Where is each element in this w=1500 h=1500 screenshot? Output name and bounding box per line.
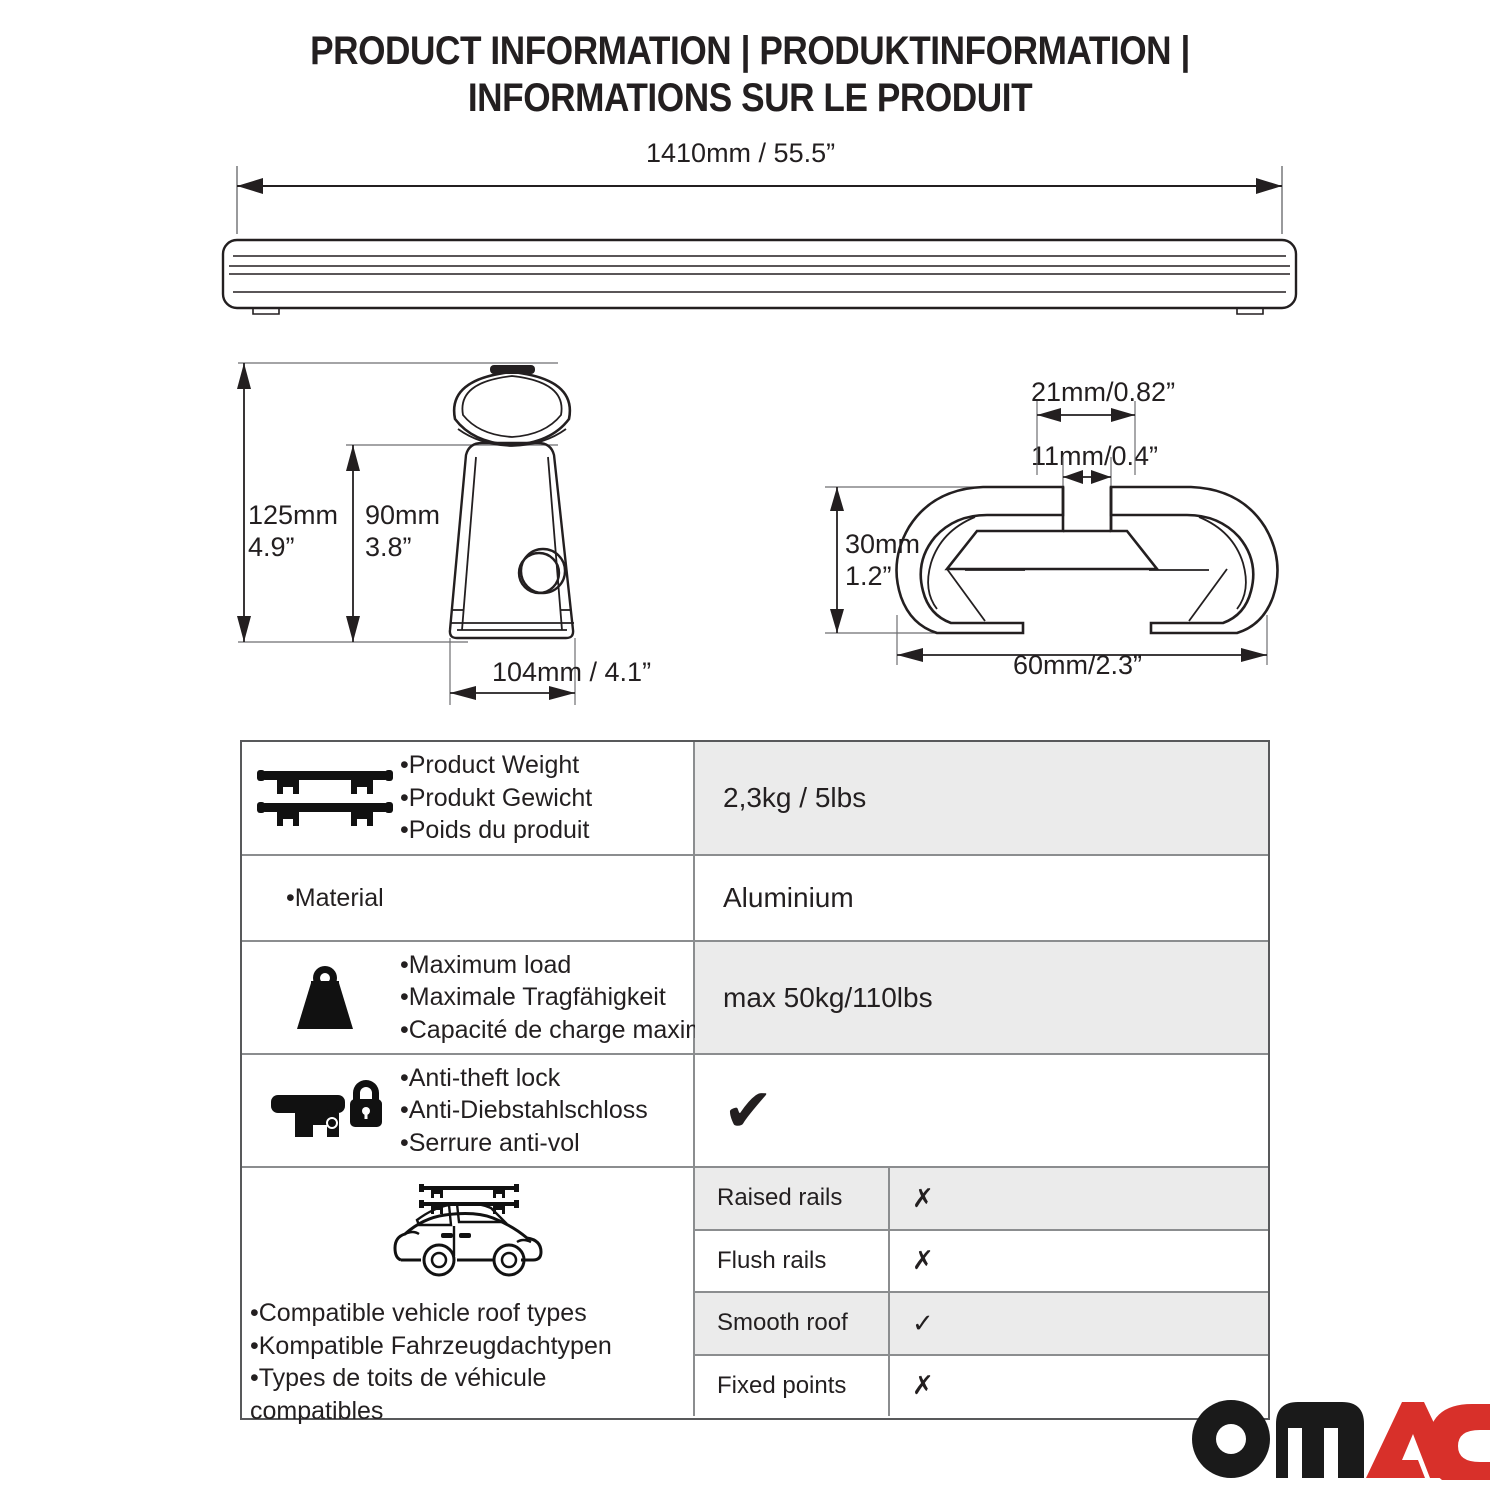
product-weight-value: 2,3kg / 5lbs — [723, 782, 866, 814]
row-label-cell: •Anti-theft lock •Anti-Diebstahlschloss … — [242, 1055, 695, 1166]
page-title-line-2: INFORMATIONS SUR LE PRODUIT — [266, 75, 1234, 122]
label-line: •Maximum load — [400, 949, 739, 982]
roof-type-name: Flush rails — [695, 1231, 890, 1292]
roof-types-label-text: •Compatible vehicle roof types •Kompatib… — [242, 1297, 612, 1427]
roof-type-row-fixed-points: Fixed points ✗ — [695, 1354, 1268, 1417]
label-line: •Anti-theft lock — [400, 1062, 648, 1095]
row-value-cell: 2,3kg / 5lbs — [695, 742, 1268, 854]
label-line: •Produkt Gewicht — [400, 782, 592, 815]
row-label-cell: •Material — [242, 856, 695, 940]
table-row-material: •Material Aluminium — [242, 854, 1268, 940]
roof-type-mark: ✓ — [890, 1293, 1268, 1354]
table-row-anti-theft-lock: •Anti-theft lock •Anti-Diebstahlschloss … — [242, 1053, 1268, 1166]
anti-theft-lock-value: ✔ — [723, 1081, 773, 1141]
roof-type-name: Fixed points — [695, 1356, 890, 1417]
label-line: •Maximale Tragfähigkeit — [400, 981, 739, 1014]
bar-profile-cross-section-drawing — [815, 365, 1285, 705]
row-value-cell: Aluminium — [695, 856, 1268, 940]
page-title-line-1: PRODUCT INFORMATION | PRODUKTINFORMATION… — [266, 28, 1234, 75]
material-value: Aluminium — [723, 882, 854, 914]
roof-type-row-flush-rails: Flush rails ✗ — [695, 1229, 1268, 1292]
foot-height-total-in: 4.9” — [248, 532, 338, 564]
label-line: •Kompatible Fahrzeugdachtypen — [250, 1330, 612, 1363]
lock-icon — [250, 1073, 400, 1149]
label-line: •Anti-Diebstahlschloss — [400, 1094, 648, 1127]
label-line: •Product Weight — [400, 749, 592, 782]
foot-height-inner-in: 3.8” — [365, 532, 440, 564]
roof-type-row-smooth-roof: Smooth roof ✓ — [695, 1291, 1268, 1354]
roof-type-name: Smooth roof — [695, 1293, 890, 1354]
roof-bars-icon — [250, 765, 400, 831]
foot-width-label: 104mm / 4.1” — [492, 657, 651, 688]
weight-icon — [250, 961, 400, 1035]
foot-height-total-label: 125mm 4.9” — [248, 500, 338, 564]
label-line: •Types de toits de véhicule — [250, 1362, 612, 1395]
omac-logo-mark — [1190, 1398, 1490, 1480]
omac-logo — [1190, 1398, 1490, 1480]
roof-bar-top-view-drawing — [215, 162, 1335, 352]
cross-icon: ✗ — [912, 1245, 934, 1276]
roof-types-label-cell: •Compatible vehicle roof types •Kompatib… — [242, 1168, 695, 1416]
specification-table: •Product Weight •Produkt Gewicht •Poids … — [240, 740, 1270, 1420]
foot-height-inner-mm: 90mm — [365, 500, 440, 532]
row-label-text: •Maximum load •Maximale Tragfähigkeit •C… — [400, 949, 739, 1047]
row-value-cell: max 50kg/110lbs — [695, 942, 1268, 1053]
table-row-product-weight: •Product Weight •Produkt Gewicht •Poids … — [242, 742, 1268, 854]
roof-type-mark: ✗ — [890, 1231, 1268, 1292]
product-information-sheet: PRODUCT INFORMATION | PRODUKTINFORMATION… — [0, 0, 1500, 1500]
label-line: •Capacité de charge maximale — [400, 1014, 739, 1047]
roof-type-name: Raised rails — [695, 1168, 890, 1229]
roof-type-row-raised-rails: Raised rails ✗ — [695, 1168, 1268, 1229]
row-label-cell: •Product Weight •Produkt Gewicht •Poids … — [242, 742, 695, 854]
check-icon: ✓ — [912, 1308, 934, 1339]
label-line: •Compatible vehicle roof types — [250, 1297, 612, 1330]
table-row-roof-types: •Compatible vehicle roof types •Kompatib… — [242, 1166, 1268, 1416]
label-line: •Serrure anti-vol — [400, 1127, 648, 1160]
car-with-roof-bars-icon — [383, 1178, 553, 1287]
table-row-maximum-load: •Maximum load •Maximale Tragfähigkeit •C… — [242, 940, 1268, 1053]
maximum-load-value: max 50kg/110lbs — [723, 982, 933, 1014]
row-label-text: •Anti-theft lock •Anti-Diebstahlschloss … — [400, 1062, 648, 1160]
row-value-cell: ✔ — [695, 1055, 1268, 1166]
label-line: compatibles — [250, 1395, 612, 1428]
foot-height-inner-label: 90mm 3.8” — [365, 500, 440, 564]
roof-type-mark: ✗ — [890, 1168, 1268, 1229]
row-label-cell: •Maximum load •Maximale Tragfähigkeit •C… — [242, 942, 695, 1053]
roof-types-subtable: Raised rails ✗ Flush rails ✗ Smooth roof… — [695, 1168, 1268, 1416]
cross-icon: ✗ — [912, 1183, 934, 1214]
foot-height-total-mm: 125mm — [248, 500, 338, 532]
label-line: •Material — [286, 882, 384, 915]
page-title: PRODUCT INFORMATION | PRODUKTINFORMATION… — [266, 28, 1234, 122]
row-label-text: •Material — [250, 882, 384, 915]
cross-icon: ✗ — [912, 1370, 934, 1401]
row-label-text: •Product Weight •Produkt Gewicht •Poids … — [400, 749, 592, 847]
label-line: •Poids du produit — [400, 814, 592, 847]
